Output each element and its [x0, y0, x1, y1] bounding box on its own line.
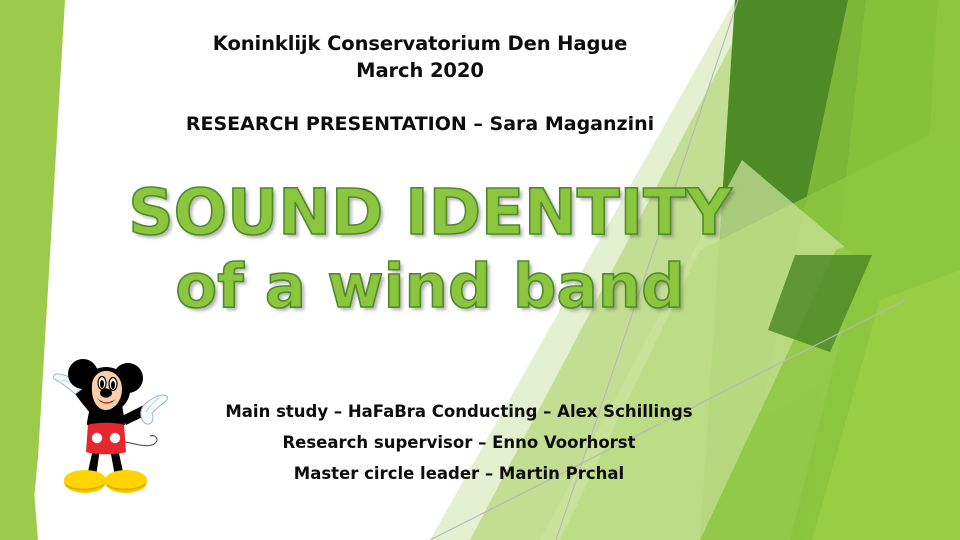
title-line-2: of a wind band: [0, 250, 860, 324]
institution-line: Koninklijk Conservatorium Den Hague: [0, 30, 840, 57]
slide-title: SOUND IDENTITY of a wind band: [0, 176, 860, 324]
mickey-right-shoe: [105, 470, 147, 493]
presentation-slide: Koninklijk Conservatorium Den Hague Marc…: [0, 0, 960, 540]
mickey-pupil-left: [100, 380, 104, 388]
presentation-subtitle: RESEARCH PRESENTATION – Sara Maganzini: [0, 111, 840, 138]
date-line: March 2020: [0, 57, 840, 84]
mickey-right-glove: [141, 395, 168, 424]
mickey-shorts-button-right: [110, 433, 120, 443]
mickey-left-shoe: [64, 470, 106, 493]
mickey-mouse-image: [44, 352, 176, 504]
mickey-pupil-right: [111, 381, 115, 389]
title-line-1: SOUND IDENTITY: [0, 176, 860, 250]
mickey-shorts-button-left: [92, 433, 102, 443]
slide-header: Koninklijk Conservatorium Den Hague Marc…: [0, 30, 840, 138]
mickey-nose: [100, 388, 112, 397]
